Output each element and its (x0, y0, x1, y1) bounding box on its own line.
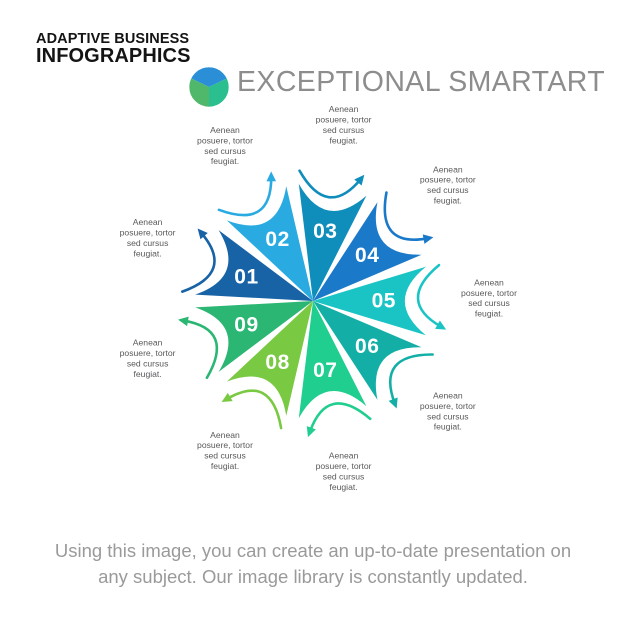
segment-number-07: 07 (313, 359, 337, 382)
footer-caption: Using this image, you can create an up-t… (30, 538, 596, 591)
segment-label-04: Aeneanposuere, tortorsed cursusfeugiat. (420, 164, 476, 205)
segment-label-03: Aeneanposuere, tortorsed cursusfeugiat. (316, 104, 372, 145)
flow-arrowhead-09 (178, 317, 189, 326)
segment-label-08: Aeneanposuere, tortorsed cursusfeugiat. (197, 430, 253, 471)
flow-arrow-06 (390, 354, 432, 403)
segment-number-02: 02 (265, 228, 289, 251)
brand-line-2: INFOGRAPHICS (36, 46, 191, 67)
flow-arrow-01 (182, 233, 214, 292)
segment-number-06: 06 (355, 335, 379, 358)
segment-number-04: 04 (355, 244, 379, 267)
segment-label-07: Aeneanposuere, tortorsed cursusfeugiat. (316, 451, 372, 492)
flow-arrowhead-02 (266, 171, 276, 181)
caption-line-2: any subject. Our image library is consta… (30, 564, 596, 590)
segment-label-01: Aeneanposuere, tortorsed cursusfeugiat. (120, 217, 176, 258)
segment-number-05: 05 (372, 290, 396, 313)
segment-label-06: Aeneanposuere, tortorsed cursusfeugiat. (420, 391, 476, 432)
segment-number-09: 09 (234, 314, 258, 337)
infographic-page: ADAPTIVE BUSINESS INFOGRAPHICS EXCEPTION… (0, 0, 626, 626)
flow-arrow-07 (310, 403, 370, 431)
pinwheel-cycle-diagram: 010203040506070809 Aeneanposuere, tortor… (0, 96, 626, 516)
segment-label-05: Aeneanposuere, tortorsed cursusfeugiat. (461, 277, 517, 318)
flow-arrow-04 (385, 193, 428, 240)
flow-arrowhead-04 (423, 234, 434, 243)
flow-arrowhead-07 (307, 426, 316, 437)
flow-arrow-03 (300, 171, 361, 198)
page-header: ADAPTIVE BUSINESS INFOGRAPHICS EXCEPTION… (0, 30, 626, 90)
segment-number-03: 03 (313, 220, 337, 243)
page-title: EXCEPTIONAL SMARTART (237, 66, 605, 99)
segment-number-01: 01 (234, 265, 258, 288)
brand-lockup: ADAPTIVE BUSINESS INFOGRAPHICS (36, 32, 191, 67)
caption-line-1: Using this image, you can create an up-t… (30, 538, 596, 564)
flow-arrow-09 (183, 321, 216, 378)
flow-arrow-02 (219, 177, 271, 215)
segment-number-08: 08 (265, 351, 289, 374)
flow-arrow-05 (418, 265, 441, 327)
segment-label-09: Aeneanposuere, tortorsed cursusfeugiat. (120, 338, 176, 379)
segment-label-02: Aeneanposuere, tortorsed cursusfeugiat. (197, 125, 253, 166)
flow-arrow-08 (226, 391, 281, 428)
